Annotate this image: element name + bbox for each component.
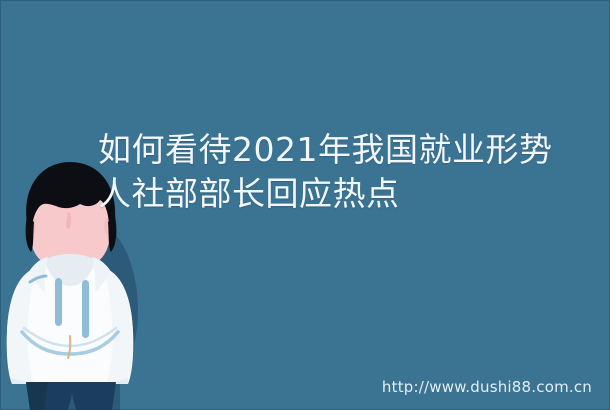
title-line-2: 人社部部长回应热点 [98, 172, 568, 216]
title-block: 如何看待2021年我国就业形势 人社部部长回应热点 [98, 128, 568, 216]
drawstring-left [55, 278, 62, 326]
title-line-1: 如何看待2021年我国就业形势 [98, 128, 568, 172]
watermark-url: http://www.dushi88.com.cn [382, 378, 592, 396]
poster-image: 如何看待2021年我国就业形势 人社部部长回应热点 http://www.dus… [0, 0, 610, 410]
drawstring-right [82, 280, 89, 338]
